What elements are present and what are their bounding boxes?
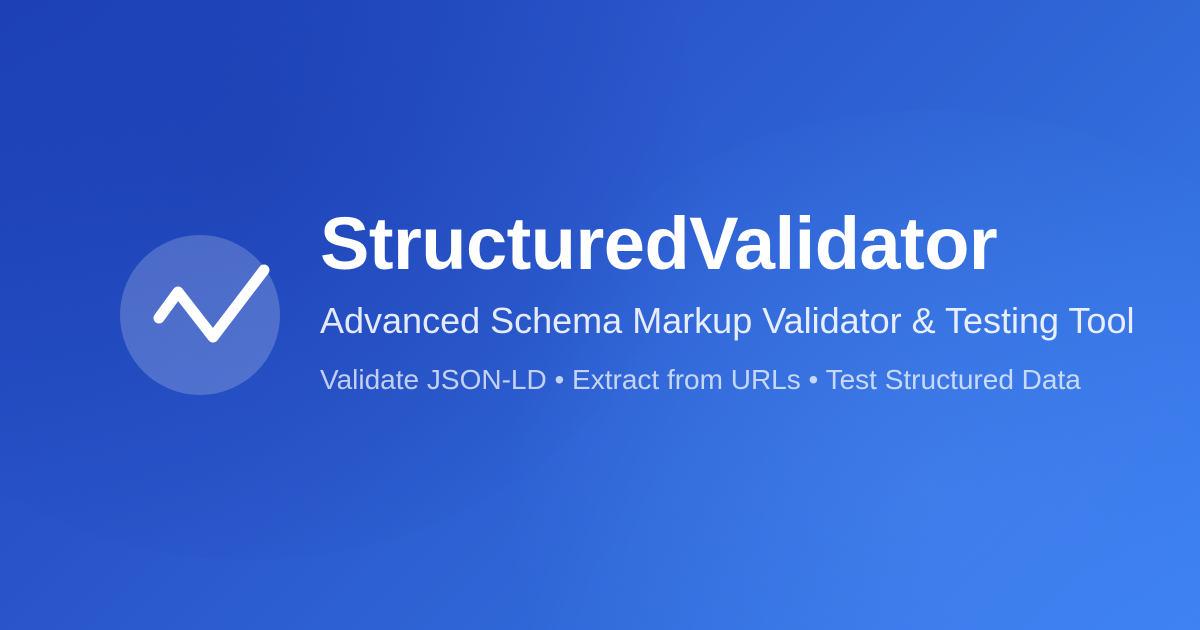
page-title: StructuredValidator <box>320 207 997 281</box>
feature-tagline: Validate JSON-LD • Extract from URLs • T… <box>320 366 1081 394</box>
line-chart-icon <box>120 235 280 395</box>
og-banner-card: StructuredValidator Advanced Schema Mark… <box>0 0 1200 630</box>
page-subtitle: Advanced Schema Markup Validator & Testi… <box>320 303 1134 339</box>
hero-row: StructuredValidator Advanced Schema Mark… <box>120 205 1134 395</box>
logo-badge <box>120 235 280 395</box>
hero-text-block: StructuredValidator Advanced Schema Mark… <box>320 207 1134 394</box>
